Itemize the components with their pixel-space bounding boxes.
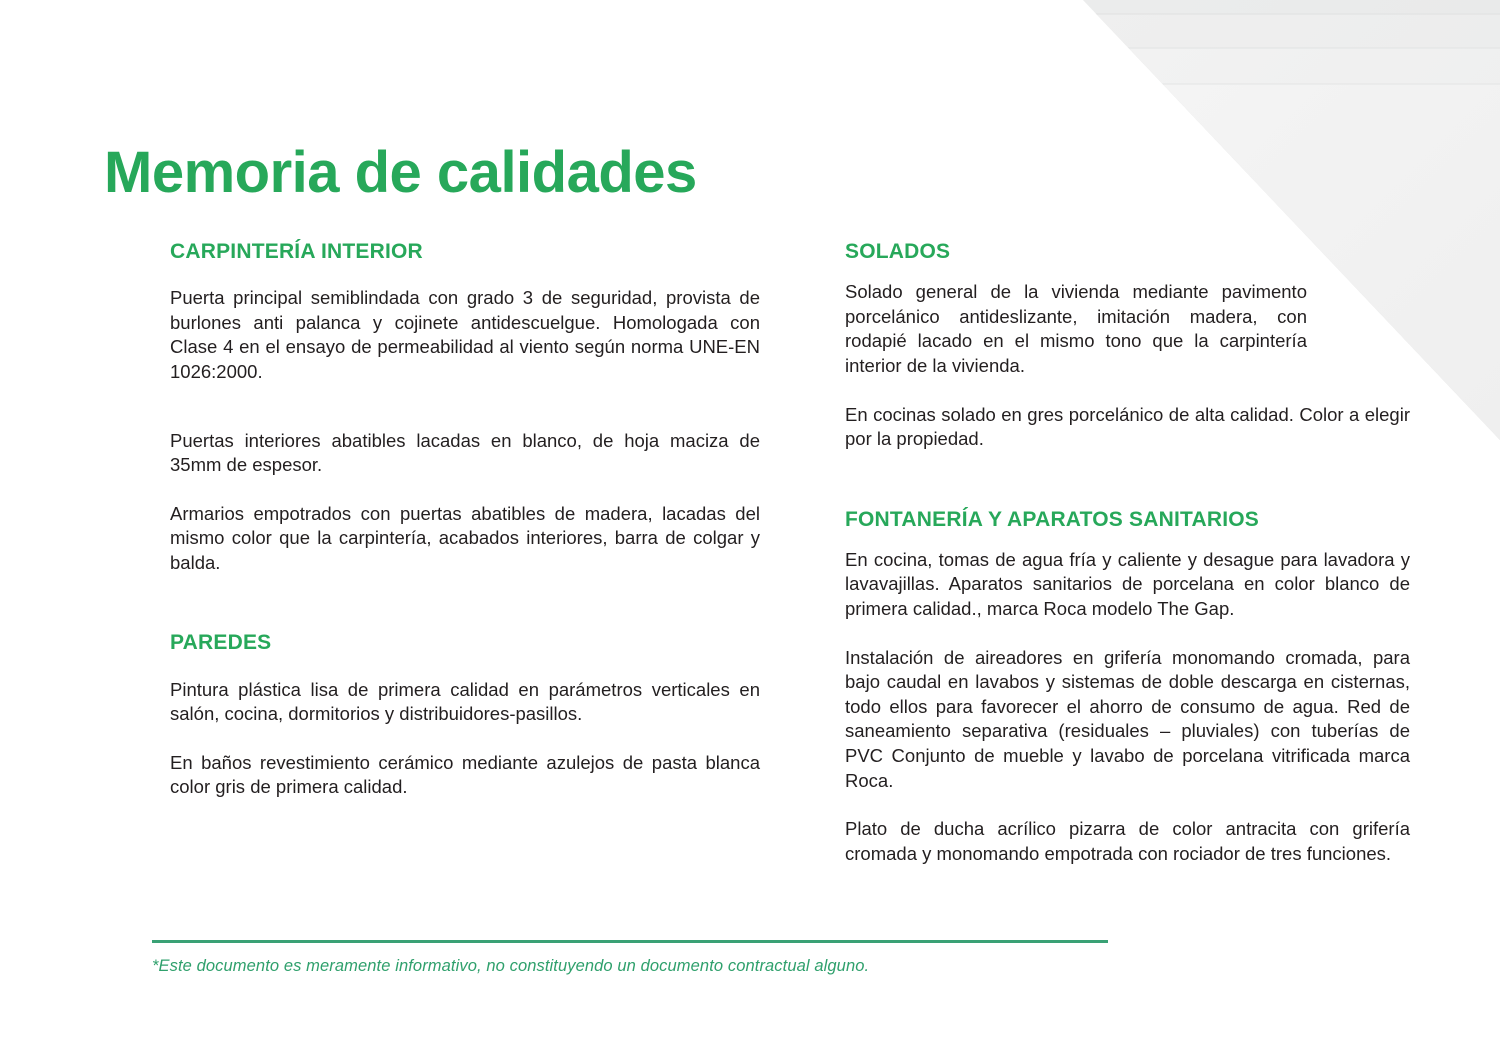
paragraph: Solado general de la vivienda mediante p… <box>845 280 1307 378</box>
paragraph: Puertas interiores abatibles lacadas en … <box>170 429 760 478</box>
paragraph: Puerta principal semiblindada con grado … <box>170 286 760 384</box>
section-heading-fontaneria-aparatos-sanitarios: FONTANERÍA Y APARATOS SANITARIOS <box>845 508 1410 532</box>
document-page: Memoria de calidades CARPINTERÍA INTERIO… <box>0 0 1500 1060</box>
paragraph: Armarios empotrados con puertas abatible… <box>170 502 760 576</box>
paragraph: Instalación de aireadores en grifería mo… <box>845 646 1410 794</box>
page-title: Memoria de calidades <box>104 143 697 204</box>
section-paredes: PAREDES Pintura plástica lisa de primera… <box>170 631 760 800</box>
paragraph: En baños revestimiento cerámico mediante… <box>170 751 760 800</box>
footer-disclaimer: *Este documento es meramente informativo… <box>152 957 869 976</box>
paragraph: En cocina, tomas de agua fría y caliente… <box>845 548 1410 622</box>
section-fontaneria-aparatos-sanitarios: FONTANERÍA Y APARATOS SANITARIOS En coci… <box>845 508 1410 867</box>
paragraph: Pintura plástica lisa de primera calidad… <box>170 678 760 727</box>
left-column: CARPINTERÍA INTERIOR Puerta principal se… <box>170 240 760 800</box>
section-heading-paredes: PAREDES <box>170 631 760 655</box>
paragraph: Plato de ducha acrílico pizarra de color… <box>845 817 1410 866</box>
right-column: SOLADOS Solado general de la vivienda me… <box>845 240 1410 866</box>
section-heading-solados: SOLADOS <box>845 240 1410 264</box>
footer-divider <box>152 940 1108 943</box>
section-heading-carpinteria-interior: CARPINTERÍA INTERIOR <box>170 240 760 264</box>
paragraph: En cocinas solado en gres porcelánico de… <box>845 403 1410 452</box>
section-carpinteria-interior: CARPINTERÍA INTERIOR Puerta principal se… <box>170 240 760 575</box>
section-solados: SOLADOS Solado general de la vivienda me… <box>845 240 1410 452</box>
